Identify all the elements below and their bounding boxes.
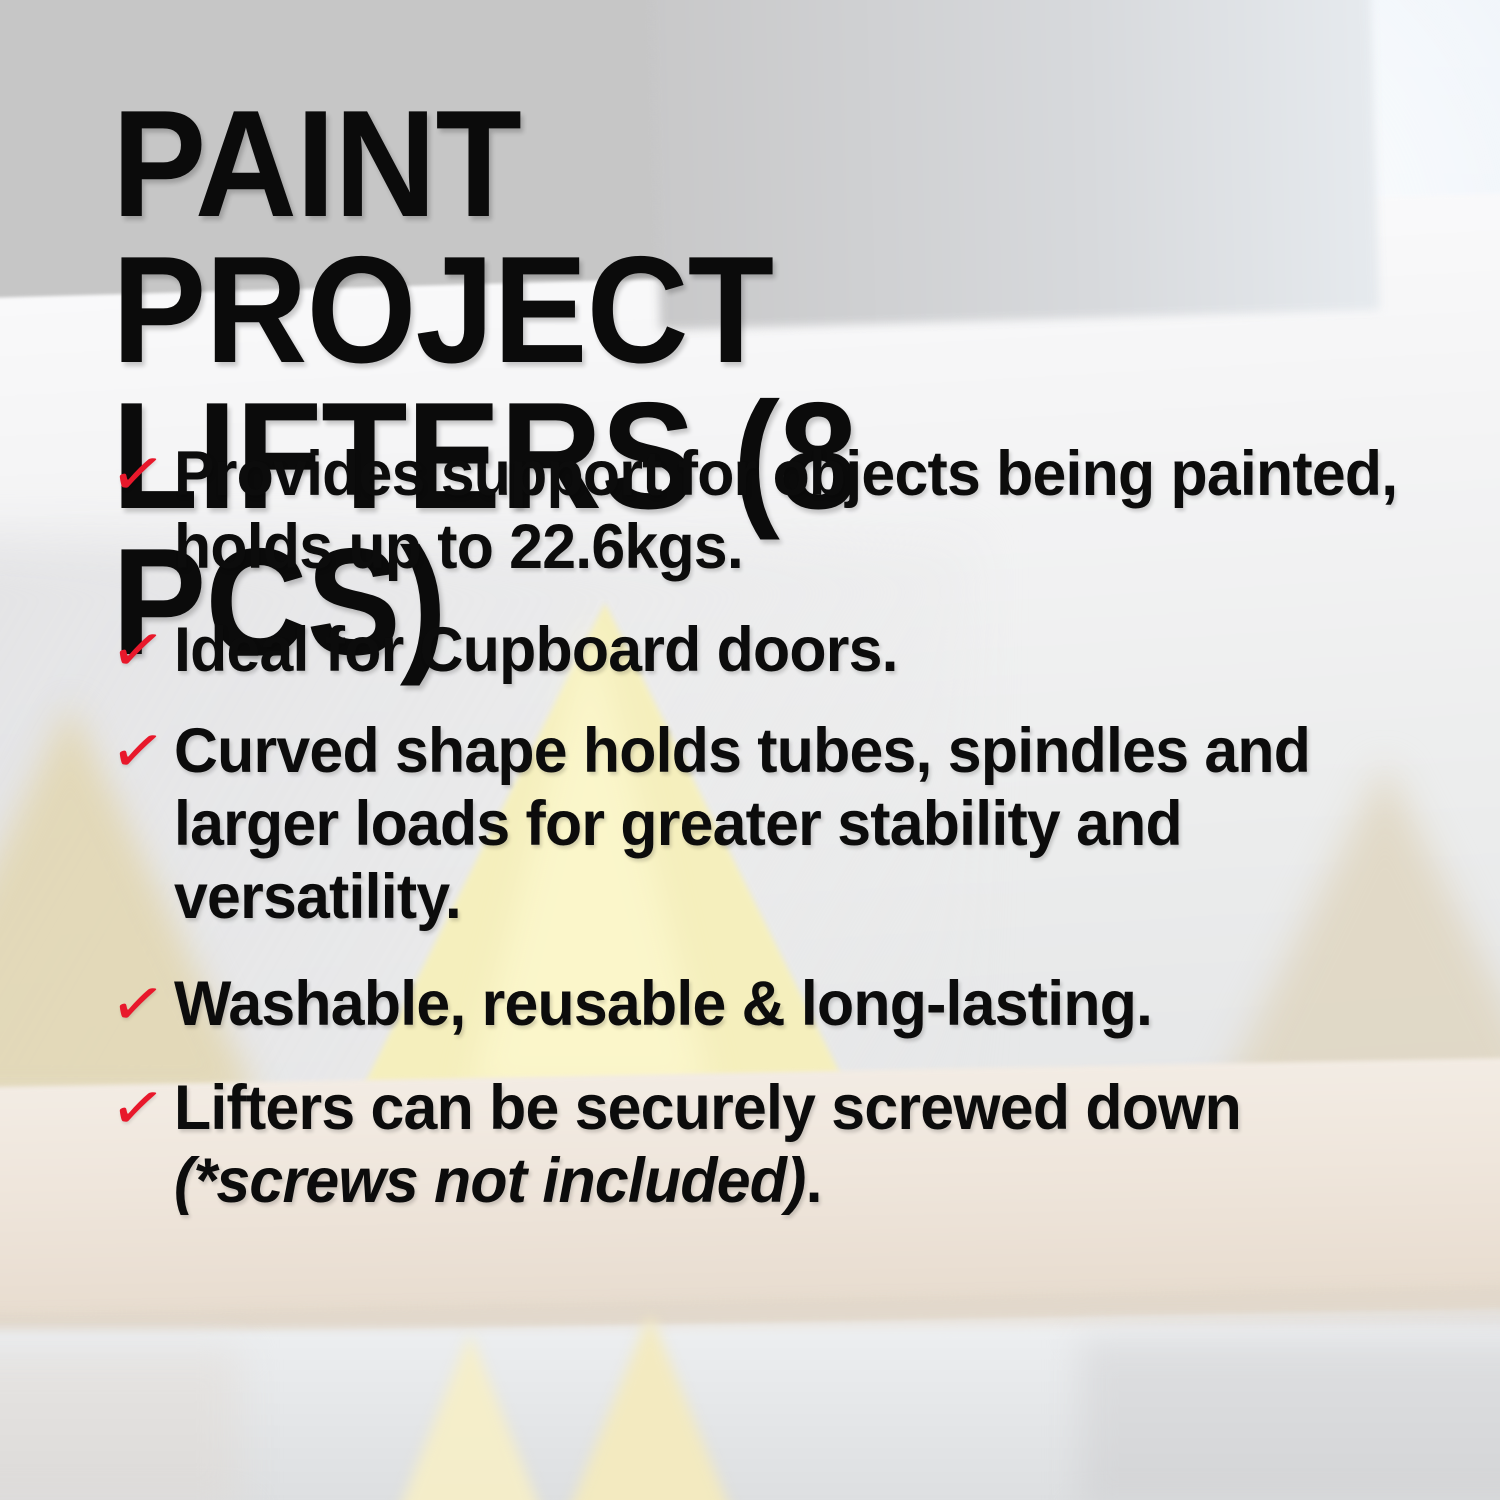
feature-text-suffix: . xyxy=(806,1146,822,1216)
content-layer: PAINT PROJECT LIFTERS (8 PCS) ✓ Provides… xyxy=(0,0,1500,1500)
list-item: ✓ Curved shape holds tubes, spindles and… xyxy=(112,715,1442,934)
feature-text: Ideal for Cupboard doors. xyxy=(174,614,1398,687)
feature-text: Washable, reusable & long-lasting. xyxy=(174,968,1398,1041)
check-icon: ✓ xyxy=(106,440,179,510)
list-item: ✓ Lifters can be securely screwed down (… xyxy=(112,1072,1442,1218)
feature-text: Curved shape holds tubes, spindles and l… xyxy=(174,715,1398,934)
feature-text: Provides support for objects being paint… xyxy=(174,438,1398,584)
list-item: ✓ Washable, reusable & long-lasting. xyxy=(112,968,1442,1041)
feature-text: Lifters can be securely screwed down (*s… xyxy=(174,1072,1398,1218)
infographic-canvas: PAINT PROJECT LIFTERS (8 PCS) ✓ Provides… xyxy=(0,0,1500,1500)
check-icon: ✓ xyxy=(106,616,179,686)
check-icon: ✓ xyxy=(106,1073,179,1143)
list-item: ✓ Provides support for objects being pai… xyxy=(112,438,1442,584)
feature-text-main: Lifters can be securely screwed down xyxy=(174,1073,1241,1143)
check-icon: ✓ xyxy=(106,970,179,1040)
list-item: ✓ Ideal for Cupboard doors. xyxy=(112,614,1442,687)
check-icon: ✓ xyxy=(106,717,179,787)
feature-text-note: (*screws not included) xyxy=(174,1146,806,1216)
feature-list: ✓ Provides support for objects being pai… xyxy=(112,438,1442,1218)
